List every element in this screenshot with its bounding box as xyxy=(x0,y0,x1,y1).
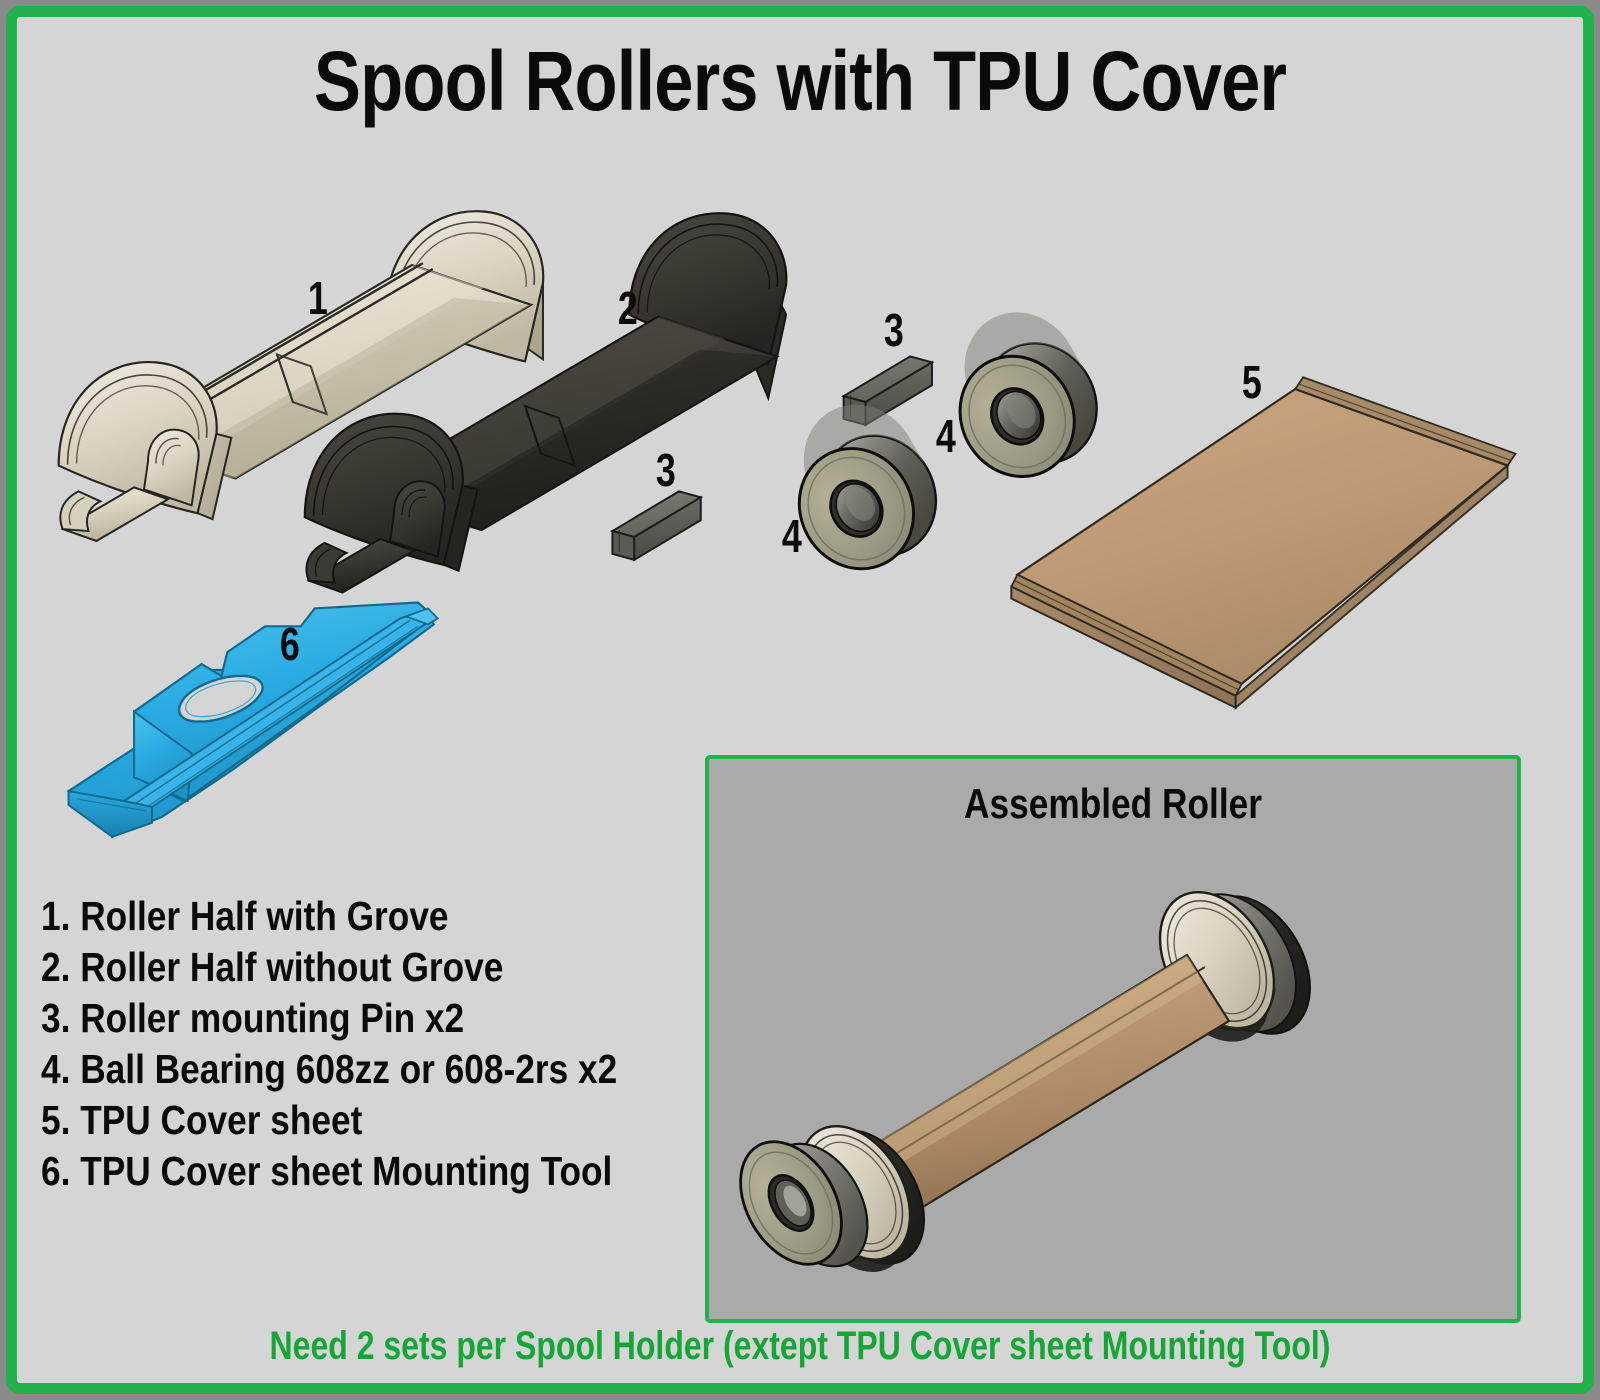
label-part-4-upper: 4 xyxy=(936,413,956,459)
legend-item-6: 6. TPU Cover sheet Mounting Tool xyxy=(41,1146,591,1197)
footer-note: Need 2 sets per Spool Holder (extept TPU… xyxy=(174,1323,1427,1369)
part-2-roller-half-without-groove xyxy=(305,213,787,592)
label-part-4-lower: 4 xyxy=(782,513,802,559)
label-part-3-lower: 3 xyxy=(656,447,676,493)
legend-item-3: 3. Roller mounting Pin x2 xyxy=(41,993,591,1044)
assembled-roller-panel: Assembled Roller xyxy=(705,755,1521,1323)
legend-item-5: 5. TPU Cover sheet xyxy=(41,1095,591,1146)
label-part-2: 2 xyxy=(618,285,638,331)
legend-item-2: 2. Roller Half without Grove xyxy=(41,942,591,993)
screenshot-root: Spool Rollers with TPU Cover xyxy=(0,0,1600,1400)
legend-item-1: 1. Roller Half with Grove xyxy=(41,891,591,942)
diagram-frame: Spool Rollers with TPU Cover xyxy=(6,6,1594,1394)
label-part-1: 1 xyxy=(308,275,328,321)
part-4-ball-bearing-upper xyxy=(920,291,1118,497)
legend-item-4: 4. Ball Bearing 608zz or 608-2rs x2 xyxy=(41,1044,591,1095)
label-part-3-upper: 3 xyxy=(884,307,904,353)
label-part-5: 5 xyxy=(1242,359,1262,405)
assembled-roller-illustration xyxy=(709,805,1521,1305)
part-3-roller-mounting-pin-lower xyxy=(612,491,700,559)
assembled-tube-body xyxy=(861,955,1229,1219)
parts-legend: 1. Roller Half with Grove 2. Roller Half… xyxy=(41,891,681,1197)
part-6-tpu-cover-sheet-mounting-tool xyxy=(69,603,438,837)
label-part-6: 6 xyxy=(280,621,300,667)
